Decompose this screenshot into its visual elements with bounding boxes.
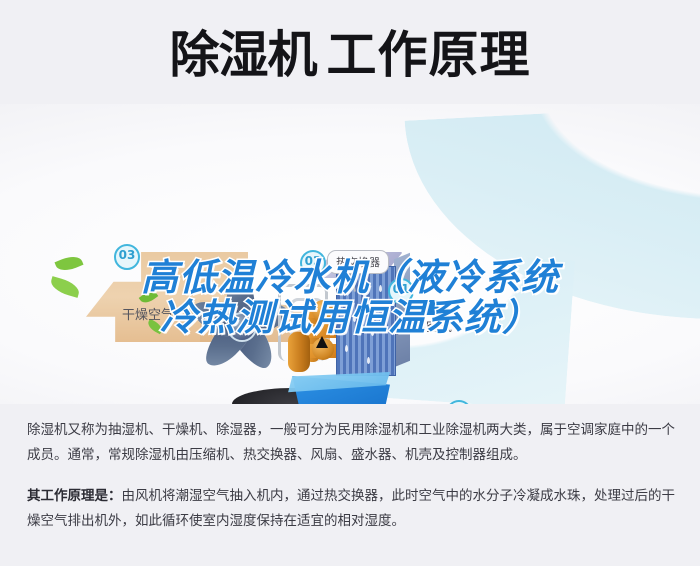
page-title: 除湿机工作原理 (0, 26, 700, 84)
flow-arrow-up-icon (316, 336, 328, 348)
leaf-icon (49, 276, 82, 298)
label-humid-air: 潮湿空气 (400, 316, 452, 335)
step-item-02: 02 潮湿空气通过热交换器冷凝成水珠 (446, 400, 700, 404)
title-part-2: 工作原理 (327, 26, 531, 84)
label-dry-air: 干燥空气 (122, 304, 174, 323)
paragraph-2: 其工作原理是：由风机将潮湿空气抽入机内，通过热交换器，此时空气中的水分子冷凝成水… (27, 484, 675, 534)
infographic-page: 除湿机工作原理 (0, 0, 700, 566)
step-text-02: 潮湿空气通过热交换器冷凝成水珠 (479, 403, 700, 405)
title-part-1: 除湿机 (170, 26, 317, 84)
callout-heat-exchanger: 热交换器 (327, 250, 389, 274)
badge-dry-air-03: 03 (114, 244, 140, 270)
badge-humid-air-01: 01 (388, 278, 414, 304)
body-copy: 除湿机又称为抽湿机、干燥机、除湿器，一般可分为民用除湿机和工业除湿机两大类，属于… (27, 418, 675, 534)
dehumidifier-diagram: 水箱 03 02 01 热交换器 干燥空气 潮湿空气 02 潮湿空气通过热交换器… (0, 104, 700, 404)
callout-pointer-icon (336, 286, 346, 294)
badge-heat-exchanger-02: 02 (300, 250, 326, 276)
step-badge-02: 02 (446, 400, 472, 404)
paragraph-1: 除湿机又称为抽湿机、干燥机、除湿器，一般可分为民用除湿机和工业除湿机两大类，属于… (27, 418, 675, 468)
leaf-icon (55, 253, 84, 275)
paragraph-2-lead: 其工作原理是： (27, 488, 122, 504)
paragraph-2-rest: 由风机将潮湿空气抽入机内，通过热交换器，此时空气中的水分子冷凝成水珠，处理过后的… (27, 488, 675, 529)
